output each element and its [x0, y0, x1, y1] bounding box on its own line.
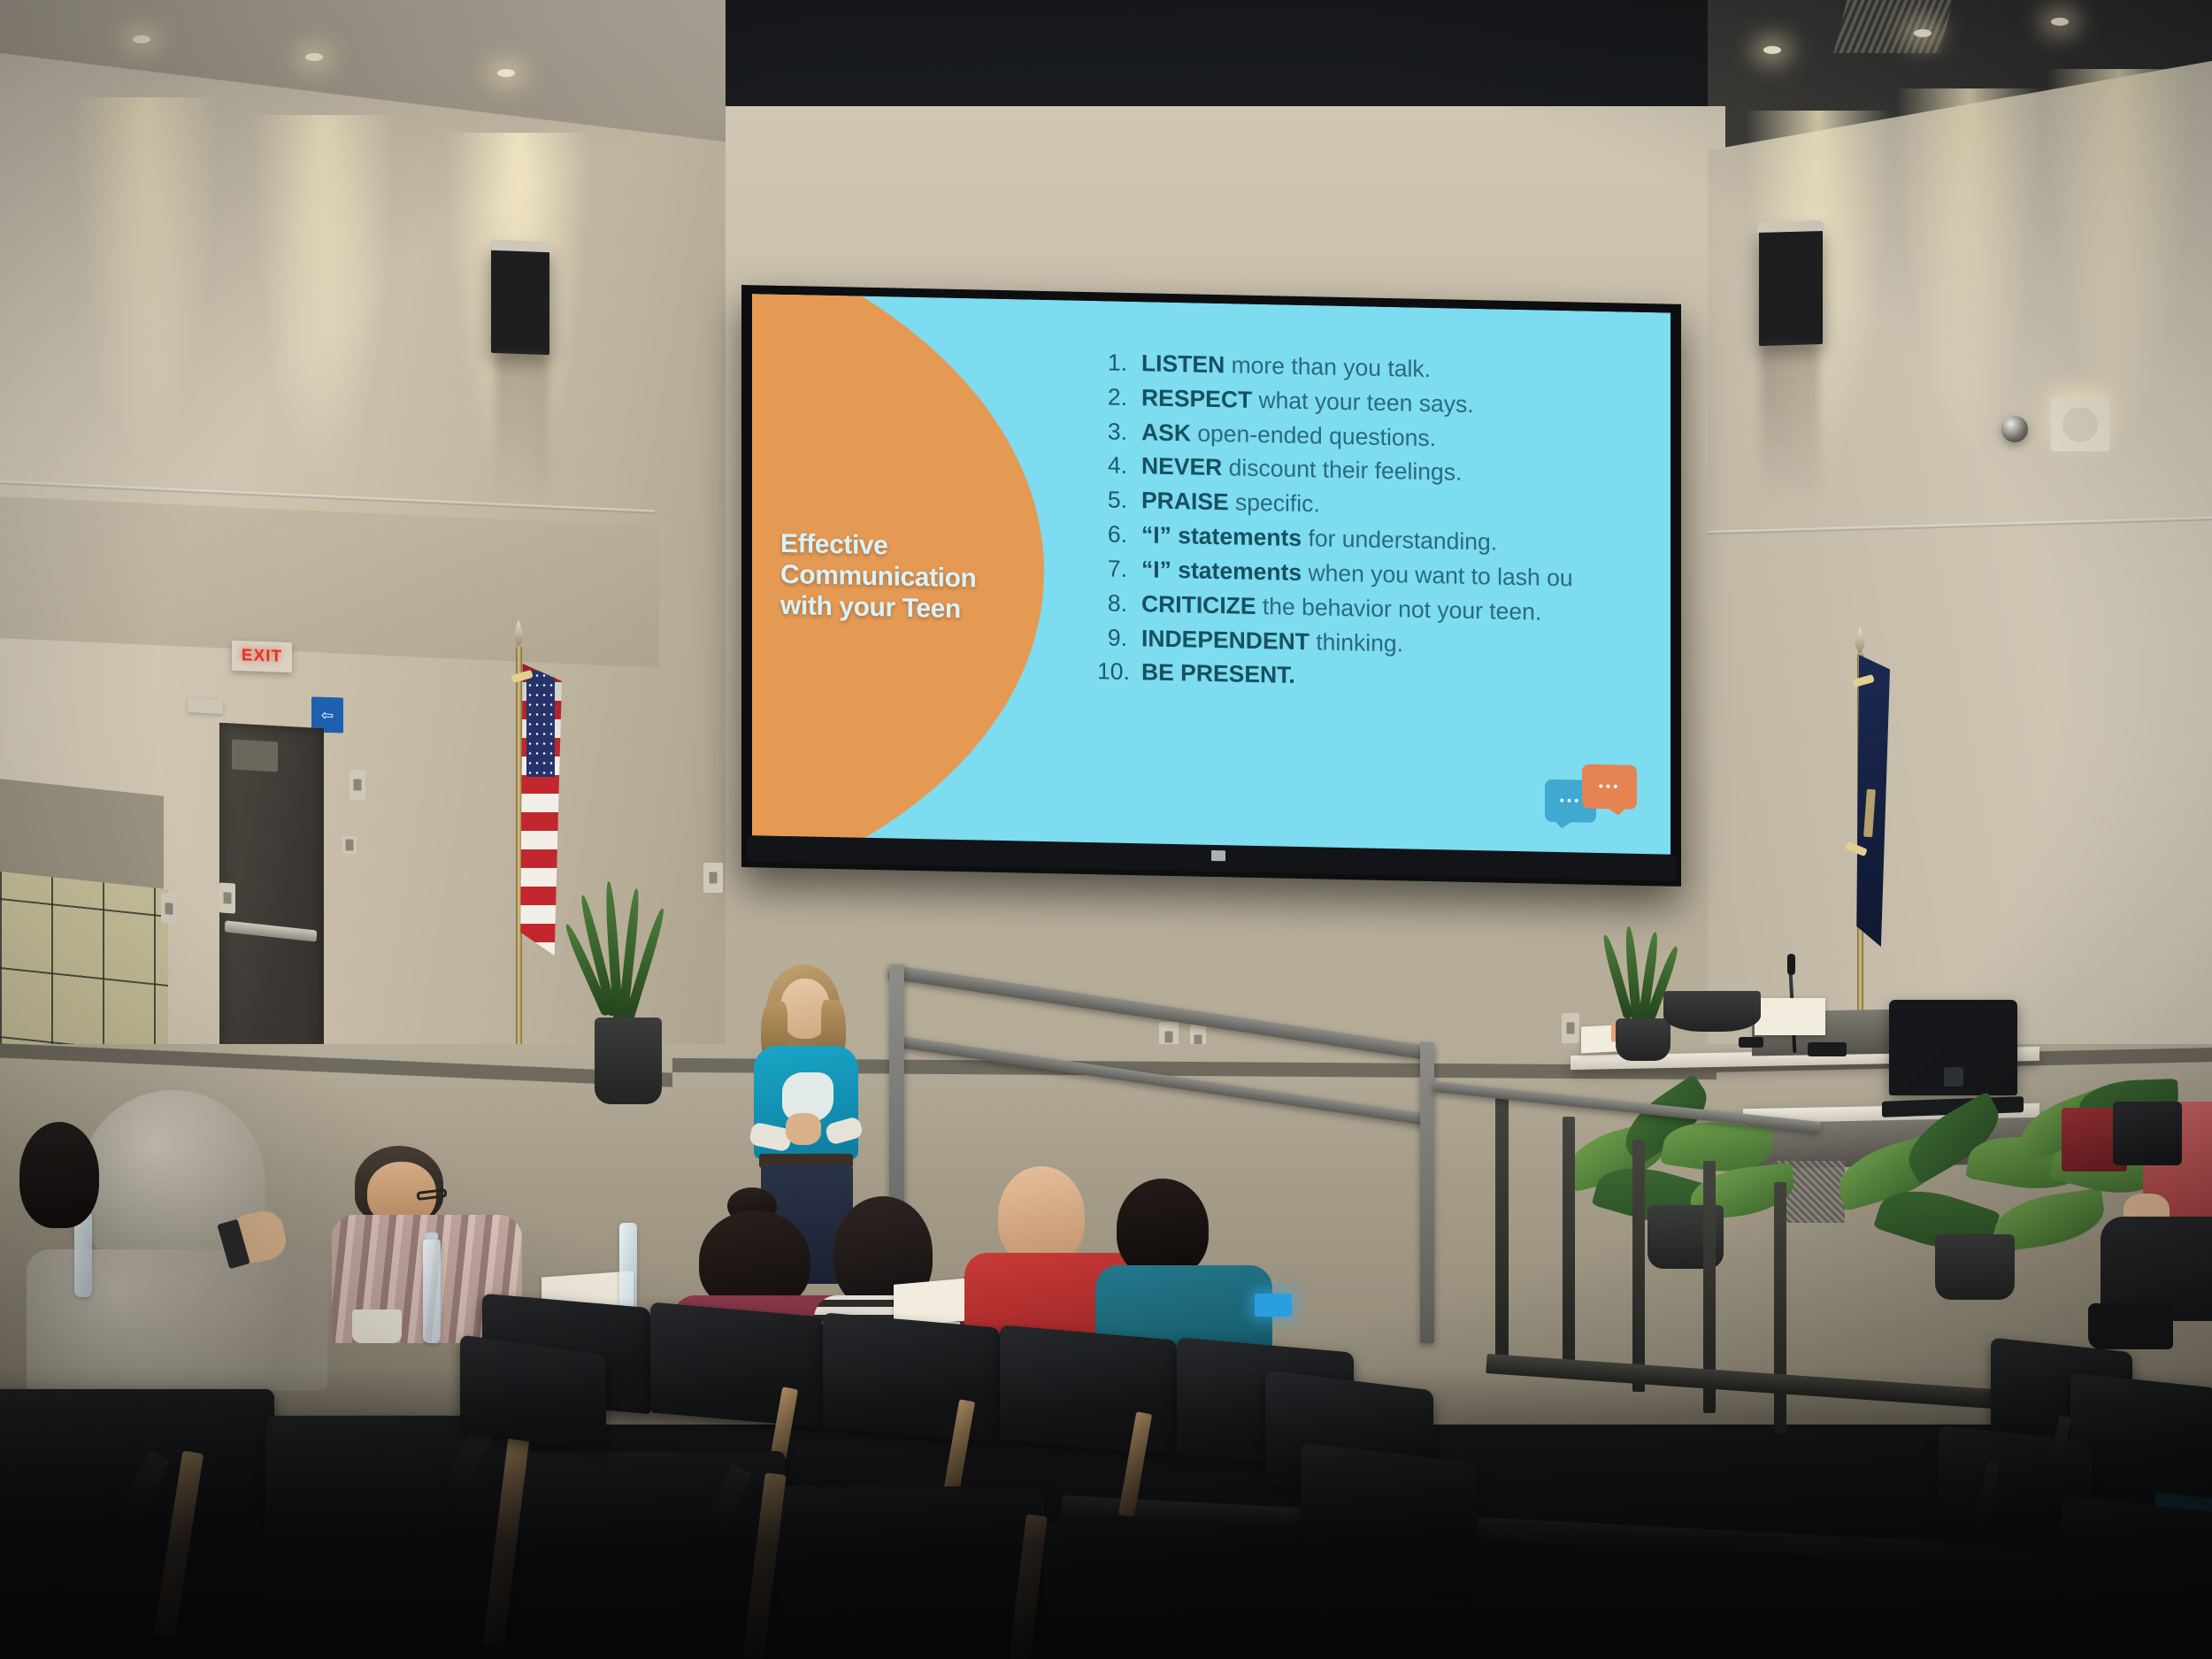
ceiling-downlight: [1914, 29, 1932, 37]
slide-list-item-number: 5.: [1097, 483, 1141, 518]
flag-torch-mark: [1864, 789, 1877, 838]
bubble-dots-orange: •••: [1599, 779, 1621, 795]
bottle-cap: [426, 1233, 438, 1240]
ceiling-downlight: [305, 53, 323, 61]
slide-list-item-keyword: BE PRESENT.: [1141, 659, 1295, 689]
light-switch[interactable]: [219, 882, 235, 913]
desk-nameplate: [1755, 998, 1825, 1035]
light-switch[interactable]: [161, 893, 177, 924]
slide-list-item-body: open-ended questions.: [1191, 419, 1436, 451]
slide-list-item-number: 9.: [1097, 620, 1141, 656]
slide-list-item-number: 8.: [1097, 586, 1141, 621]
snake-plant-left: [575, 894, 681, 1097]
wall-right: [1708, 53, 2212, 1115]
slide-list-item-body: specific.: [1229, 489, 1320, 518]
slide-list-item-number: 3.: [1097, 414, 1141, 449]
attendee-hair: [1117, 1179, 1209, 1278]
slide-canvas: Effective Communication with your Teen 1…: [752, 294, 1671, 856]
av-device: [1739, 1037, 1763, 1048]
water-bottle: [423, 1239, 441, 1343]
wall-outlet[interactable]: [349, 770, 365, 801]
slide-list-item-body: discount their feelings.: [1222, 455, 1462, 487]
directional-arrow-icon: ⇦: [321, 707, 334, 722]
wall-speaker-left: [491, 247, 549, 355]
aisle-railing-post: [1563, 1117, 1575, 1373]
wall-speaker-panel: [2051, 398, 2109, 451]
ceiling-downlight: [497, 69, 515, 77]
plant-pot: [1616, 1018, 1671, 1061]
auditorium-scene: Effective Communication with your Teen 1…: [0, 0, 2212, 1659]
aisle-railing-post: [1420, 1042, 1434, 1343]
slide-list-item-keyword: RESPECT: [1141, 384, 1252, 413]
slide-list-item-keyword: “I” statements: [1141, 521, 1302, 551]
slide-list-item-number: 4.: [1097, 449, 1141, 484]
dark-hair-attendee: [7, 1122, 113, 1281]
wall-outlet[interactable]: [342, 836, 357, 855]
ceiling-vent: [1834, 0, 1954, 53]
wall-speaker-right: [1759, 227, 1823, 346]
slide-title: Effective Communication with your Teen: [780, 528, 1046, 626]
wall-bracket: [188, 698, 223, 714]
projection-screen: Effective Communication with your Teen 1…: [741, 285, 1681, 887]
speech-bubbles-icon: ••• •••: [1545, 764, 1639, 833]
speaker-shadow: [495, 352, 549, 503]
desk-microphone-head: [1787, 954, 1795, 975]
av-device: [1808, 1042, 1847, 1056]
slide-list-item-text: PRAISE specific.: [1141, 484, 1320, 522]
slide-list-item-body: more than you talk.: [1225, 351, 1431, 382]
exit-sign-label: EXIT: [242, 646, 282, 667]
black-bag: [2113, 1102, 2182, 1165]
phone-screen[interactable]: [1255, 1294, 1292, 1317]
attendee-hair: [19, 1122, 99, 1228]
slide-list-item-body: for understanding.: [1302, 525, 1497, 556]
screen-brand-logo: [1211, 850, 1225, 861]
slide-list-item-number: 6.: [1097, 517, 1141, 552]
slide-list-item-keyword: LISTEN: [1141, 349, 1225, 378]
slide-list-item-text: INDEPENDENT thinking.: [1141, 621, 1403, 661]
decorative-bowl: [1663, 991, 1761, 1032]
slide-list-item-number: 2.: [1097, 380, 1141, 415]
aisle-railing-post: [1495, 1093, 1509, 1358]
slide-list-item-number: 1.: [1097, 345, 1141, 380]
foreground-shadow-overlay: [0, 1367, 2212, 1659]
slide-list-item-body: when you want to lash ou: [1302, 559, 1572, 591]
ceiling-downlight: [2051, 18, 2069, 26]
slide-list-item-number: 10.: [1097, 655, 1141, 690]
speech-bubble-orange-icon: •••: [1582, 764, 1637, 810]
ceiling-downlight: [1763, 46, 1781, 54]
wainscot-panel-left: [0, 496, 659, 668]
slide-list-item-keyword: PRAISE: [1141, 488, 1229, 516]
bubble-dots-blue: •••: [1560, 794, 1582, 810]
slide-list-item-keyword: CRITICIZE: [1141, 590, 1256, 619]
slide-list-item-body: what your teen says.: [1252, 387, 1473, 418]
slide-list-item-keyword: “I” statements: [1141, 556, 1302, 586]
aisle-railing-post: [1632, 1140, 1645, 1392]
monitor-logo: [1944, 1067, 1963, 1087]
attendee-head-bald: [998, 1166, 1085, 1265]
slide-list-item-text: ASK open-ended questions.: [1141, 415, 1436, 456]
flag-canton: [526, 671, 555, 777]
slide-bullet-list: 1.LISTEN more than you talk.2.RESPECT wh…: [1097, 345, 1671, 702]
attendee-boot: [2088, 1303, 2173, 1349]
slide-list-item-text: LISTEN more than you talk.: [1141, 346, 1431, 387]
plant-pot: [595, 1018, 662, 1104]
door-push-bar[interactable]: [225, 920, 318, 941]
plant-pot: [1935, 1234, 2015, 1300]
slide-list-item-keyword: ASK: [1141, 419, 1191, 446]
slide-list-item-body: the behavior not your teen.: [1256, 593, 1542, 626]
speaker-shadow: [1761, 343, 1819, 503]
disposable-cup: [352, 1310, 402, 1343]
slide-list-item-keyword: NEVER: [1141, 453, 1222, 481]
door-window: [232, 739, 278, 772]
wall-outlet[interactable]: [703, 863, 723, 893]
slide-list-item-text: BE PRESENT.: [1141, 656, 1295, 693]
slide-list-item-body: thinking.: [1310, 628, 1403, 657]
slide-list-item-keyword: INDEPENDENT: [1141, 625, 1310, 655]
ceiling-downlight: [133, 35, 150, 43]
exit-sign: EXIT: [232, 641, 292, 672]
presenter-hand: [786, 1113, 821, 1145]
slide-list-item-number: 7.: [1097, 551, 1141, 587]
dome-camera-icon: [2001, 416, 2028, 442]
projected-slide: Effective Communication with your Teen 1…: [752, 294, 1671, 856]
slide-title-line-3: with your Teen: [780, 590, 1046, 626]
desk-monitor: [1889, 1000, 2017, 1095]
